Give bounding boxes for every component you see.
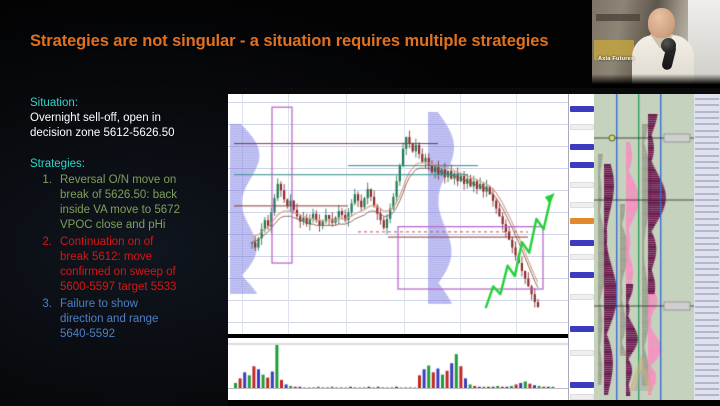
- market-profile-pane[interactable]: [594, 94, 694, 400]
- trading-platform-window[interactable]: [228, 88, 720, 406]
- strategy-line: confirmed on sweep of: [60, 265, 226, 280]
- price-axis-label[interactable]: [570, 382, 594, 388]
- profile-axis-tick: [695, 274, 719, 276]
- profile-axis-tick: [695, 287, 719, 289]
- profile-axis-tick: [695, 243, 719, 245]
- profile-axis-tick: [695, 205, 719, 207]
- list-item: 1. Reversal O/N move on break of 5626.50…: [30, 173, 226, 233]
- webcam-person-head: [648, 8, 675, 38]
- profile-axis-tick: [695, 180, 719, 182]
- profile-axis-tick: [695, 142, 719, 144]
- presentation-slide: Strategies are not singular - a situatio…: [0, 0, 720, 406]
- profile-axis-tick: [695, 369, 719, 371]
- price-axis-tick: [570, 202, 594, 208]
- profile-axis-tick: [695, 211, 719, 213]
- situation-block: Situation: Overnight sell-off, open in d…: [30, 96, 226, 141]
- profile-axis-tick: [695, 174, 719, 176]
- profile-axis-tick: [695, 104, 719, 106]
- strategies-heading: Strategies:: [30, 157, 226, 172]
- profile-axis-tick: [695, 306, 719, 308]
- microphone-head-icon: [661, 38, 676, 53]
- time-axis[interactable]: [228, 388, 568, 400]
- profile-axis-tick: [695, 394, 719, 396]
- axia-logo-watermark: [618, 352, 664, 394]
- price-axis-label[interactable]: [570, 240, 594, 246]
- profile-axis-tick: [695, 186, 719, 188]
- webcam-shelf: [596, 14, 640, 21]
- price-axis-tick: [570, 350, 594, 356]
- notes-panel: Situation: Overnight sell-off, open in d…: [30, 96, 226, 342]
- price-axis-label[interactable]: [570, 106, 594, 112]
- profile-axis-tick: [695, 167, 719, 169]
- strategy-line: VPOC close and pHi: [60, 218, 226, 233]
- profile-axis-tick: [695, 293, 719, 295]
- strategy-number: 1.: [30, 173, 60, 233]
- profile-axis-tick: [695, 256, 719, 258]
- price-axis-label[interactable]: [570, 272, 594, 278]
- situation-line-2: decision zone 5612-5626.50: [30, 126, 226, 141]
- price-chart-pane[interactable]: [228, 94, 568, 334]
- strategy-line: Continuation on of: [60, 235, 226, 250]
- profile-axis-tick: [695, 117, 719, 119]
- profile-axis-tick: [695, 237, 719, 239]
- strategy-number: 3.: [30, 297, 60, 342]
- profile-axis-tick: [695, 331, 719, 333]
- profile-axis-tick: [695, 148, 719, 150]
- strategy-line: inside VA move to 5672: [60, 203, 226, 218]
- strategy-line: 5640-5592: [60, 327, 226, 342]
- price-axis-label[interactable]: [570, 326, 594, 332]
- webcam-brand-label: Axia Futures: [598, 56, 634, 62]
- situation-line-1: Overnight sell-off, open in: [30, 111, 226, 126]
- webcam-overlay: Axia Futures: [592, 0, 720, 88]
- profile-axis-tick: [695, 130, 719, 132]
- profile-axis-tick: [695, 300, 719, 302]
- profile-axis-tick: [695, 356, 719, 358]
- profile-axis-tick: [695, 382, 719, 384]
- profile-axis-tick: [695, 230, 719, 232]
- strategy-text: Continuation on of break 5612: move conf…: [60, 235, 226, 295]
- strategy-line: break of 5626.50: back: [60, 188, 226, 203]
- strategy-line: direction and range: [60, 312, 226, 327]
- situation-heading: Situation:: [30, 96, 226, 111]
- list-item: 3. Failure to show direction and range 5…: [30, 297, 226, 342]
- profile-axis-scale[interactable]: [694, 94, 720, 400]
- price-axis-label[interactable]: [570, 144, 594, 150]
- price-axis-tick: [570, 394, 594, 400]
- price-axis-tick: [570, 294, 594, 300]
- profile-axis-tick: [695, 161, 719, 163]
- strategy-line: break 5612: move: [60, 250, 226, 265]
- profile-axis-tick: [695, 249, 719, 251]
- profile-axis-tick: [695, 262, 719, 264]
- profile-axis-tick: [695, 123, 719, 125]
- webcam-bottom-fade: [592, 74, 720, 88]
- profile-axis-tick: [695, 199, 719, 201]
- profile-axis-tick: [695, 337, 719, 339]
- strategy-text: Failure to show direction and range 5640…: [60, 297, 226, 342]
- strategy-number: 2.: [30, 235, 60, 295]
- price-axis-tick: [570, 182, 594, 188]
- profile-axis-tick: [695, 350, 719, 352]
- profile-axis-tick: [695, 155, 719, 157]
- profile-axis-tick: [695, 312, 719, 314]
- profile-axis-tick: [695, 268, 719, 270]
- page-title: Strategies are not singular - a situatio…: [30, 32, 630, 51]
- strategy-line: Failure to show: [60, 297, 226, 312]
- list-item: 2. Continuation on of break 5612: move c…: [30, 235, 226, 295]
- candlestick-canvas: [228, 94, 568, 334]
- profile-axis-tick: [695, 111, 719, 113]
- profile-axis-tick: [695, 193, 719, 195]
- price-axis-label[interactable]: [570, 218, 594, 224]
- profile-axis-tick: [695, 98, 719, 100]
- profile-axis-tick: [695, 218, 719, 220]
- strategy-line: 5600-5597 target 5533: [60, 280, 226, 295]
- profile-axis-tick: [695, 319, 719, 321]
- profile-axis-tick: [695, 344, 719, 346]
- profile-axis-tick: [695, 224, 719, 226]
- price-axis-tick: [570, 124, 594, 130]
- price-axis-tick: [570, 254, 594, 260]
- profile-axis-tick: [695, 281, 719, 283]
- strategy-list: 1. Reversal O/N move on break of 5626.50…: [30, 173, 226, 342]
- volume-pane[interactable]: [228, 338, 568, 400]
- price-axis-scale[interactable]: [568, 94, 595, 400]
- price-axis-label[interactable]: [570, 162, 594, 168]
- profile-axis-tick: [695, 325, 719, 327]
- profile-axis-tick: [695, 388, 719, 390]
- strategy-line: Reversal O/N move on: [60, 173, 226, 188]
- strategy-text: Reversal O/N move on break of 5626.50: b…: [60, 173, 226, 233]
- profile-axis-tick: [695, 375, 719, 377]
- profile-axis-tick: [695, 363, 719, 365]
- profile-axis-tick: [695, 136, 719, 138]
